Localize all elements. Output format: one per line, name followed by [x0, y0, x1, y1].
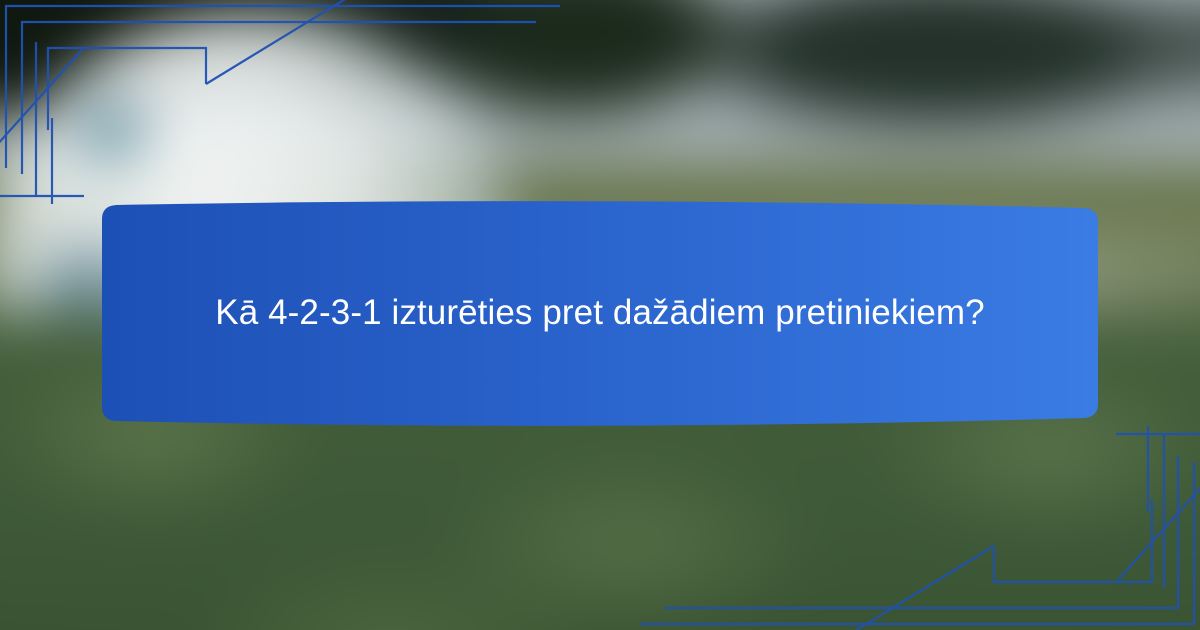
headline-text-area: Kā 4-2-3-1 izturēties pret dažādiem pret…	[120, 205, 1080, 421]
social-card: Kā 4-2-3-1 izturēties pret dažādiem pret…	[0, 0, 1200, 630]
page-title: Kā 4-2-3-1 izturēties pret dažādiem pret…	[215, 285, 984, 342]
headline-banner: Kā 4-2-3-1 izturēties pret dažādiem pret…	[0, 0, 1200, 630]
